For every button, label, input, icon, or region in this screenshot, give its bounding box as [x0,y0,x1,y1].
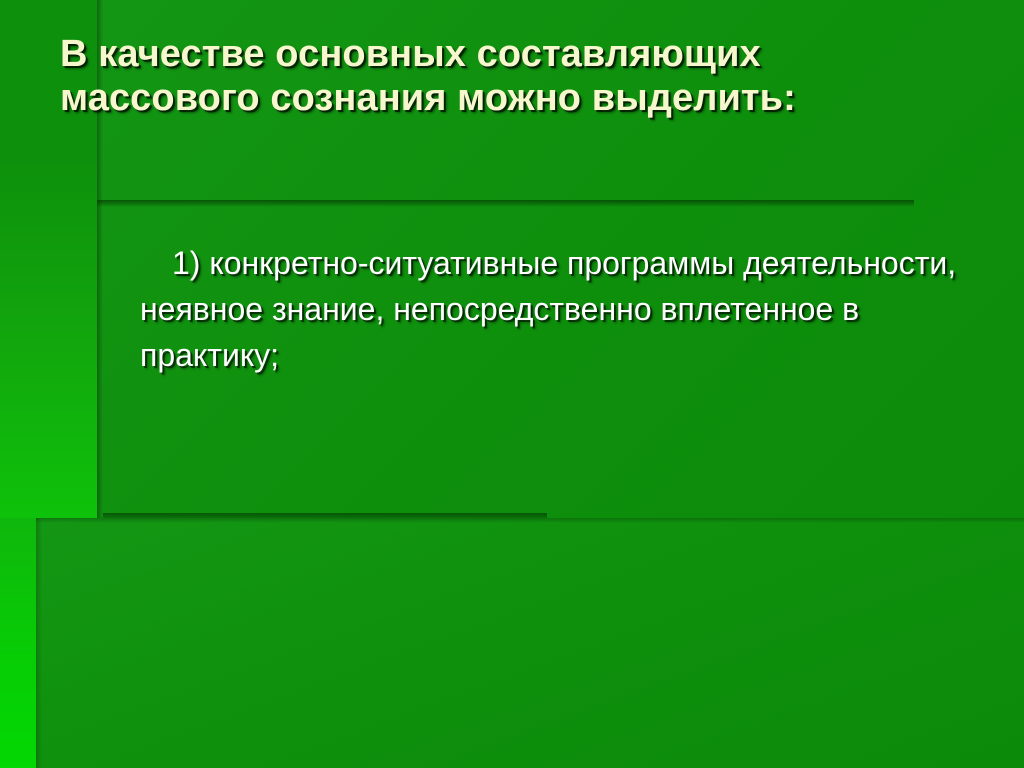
slide-body-paragraph: 1) конкретно-ситуативные программы деяте… [140,240,970,378]
lower-left-accent-sliver [0,518,36,768]
presentation-slide: В качестве основных составляющих массово… [0,0,1024,768]
title-divider-rule [97,200,914,207]
lower-content-panel [35,518,1024,768]
slide-title: В качестве основных составляющих массово… [60,32,960,121]
